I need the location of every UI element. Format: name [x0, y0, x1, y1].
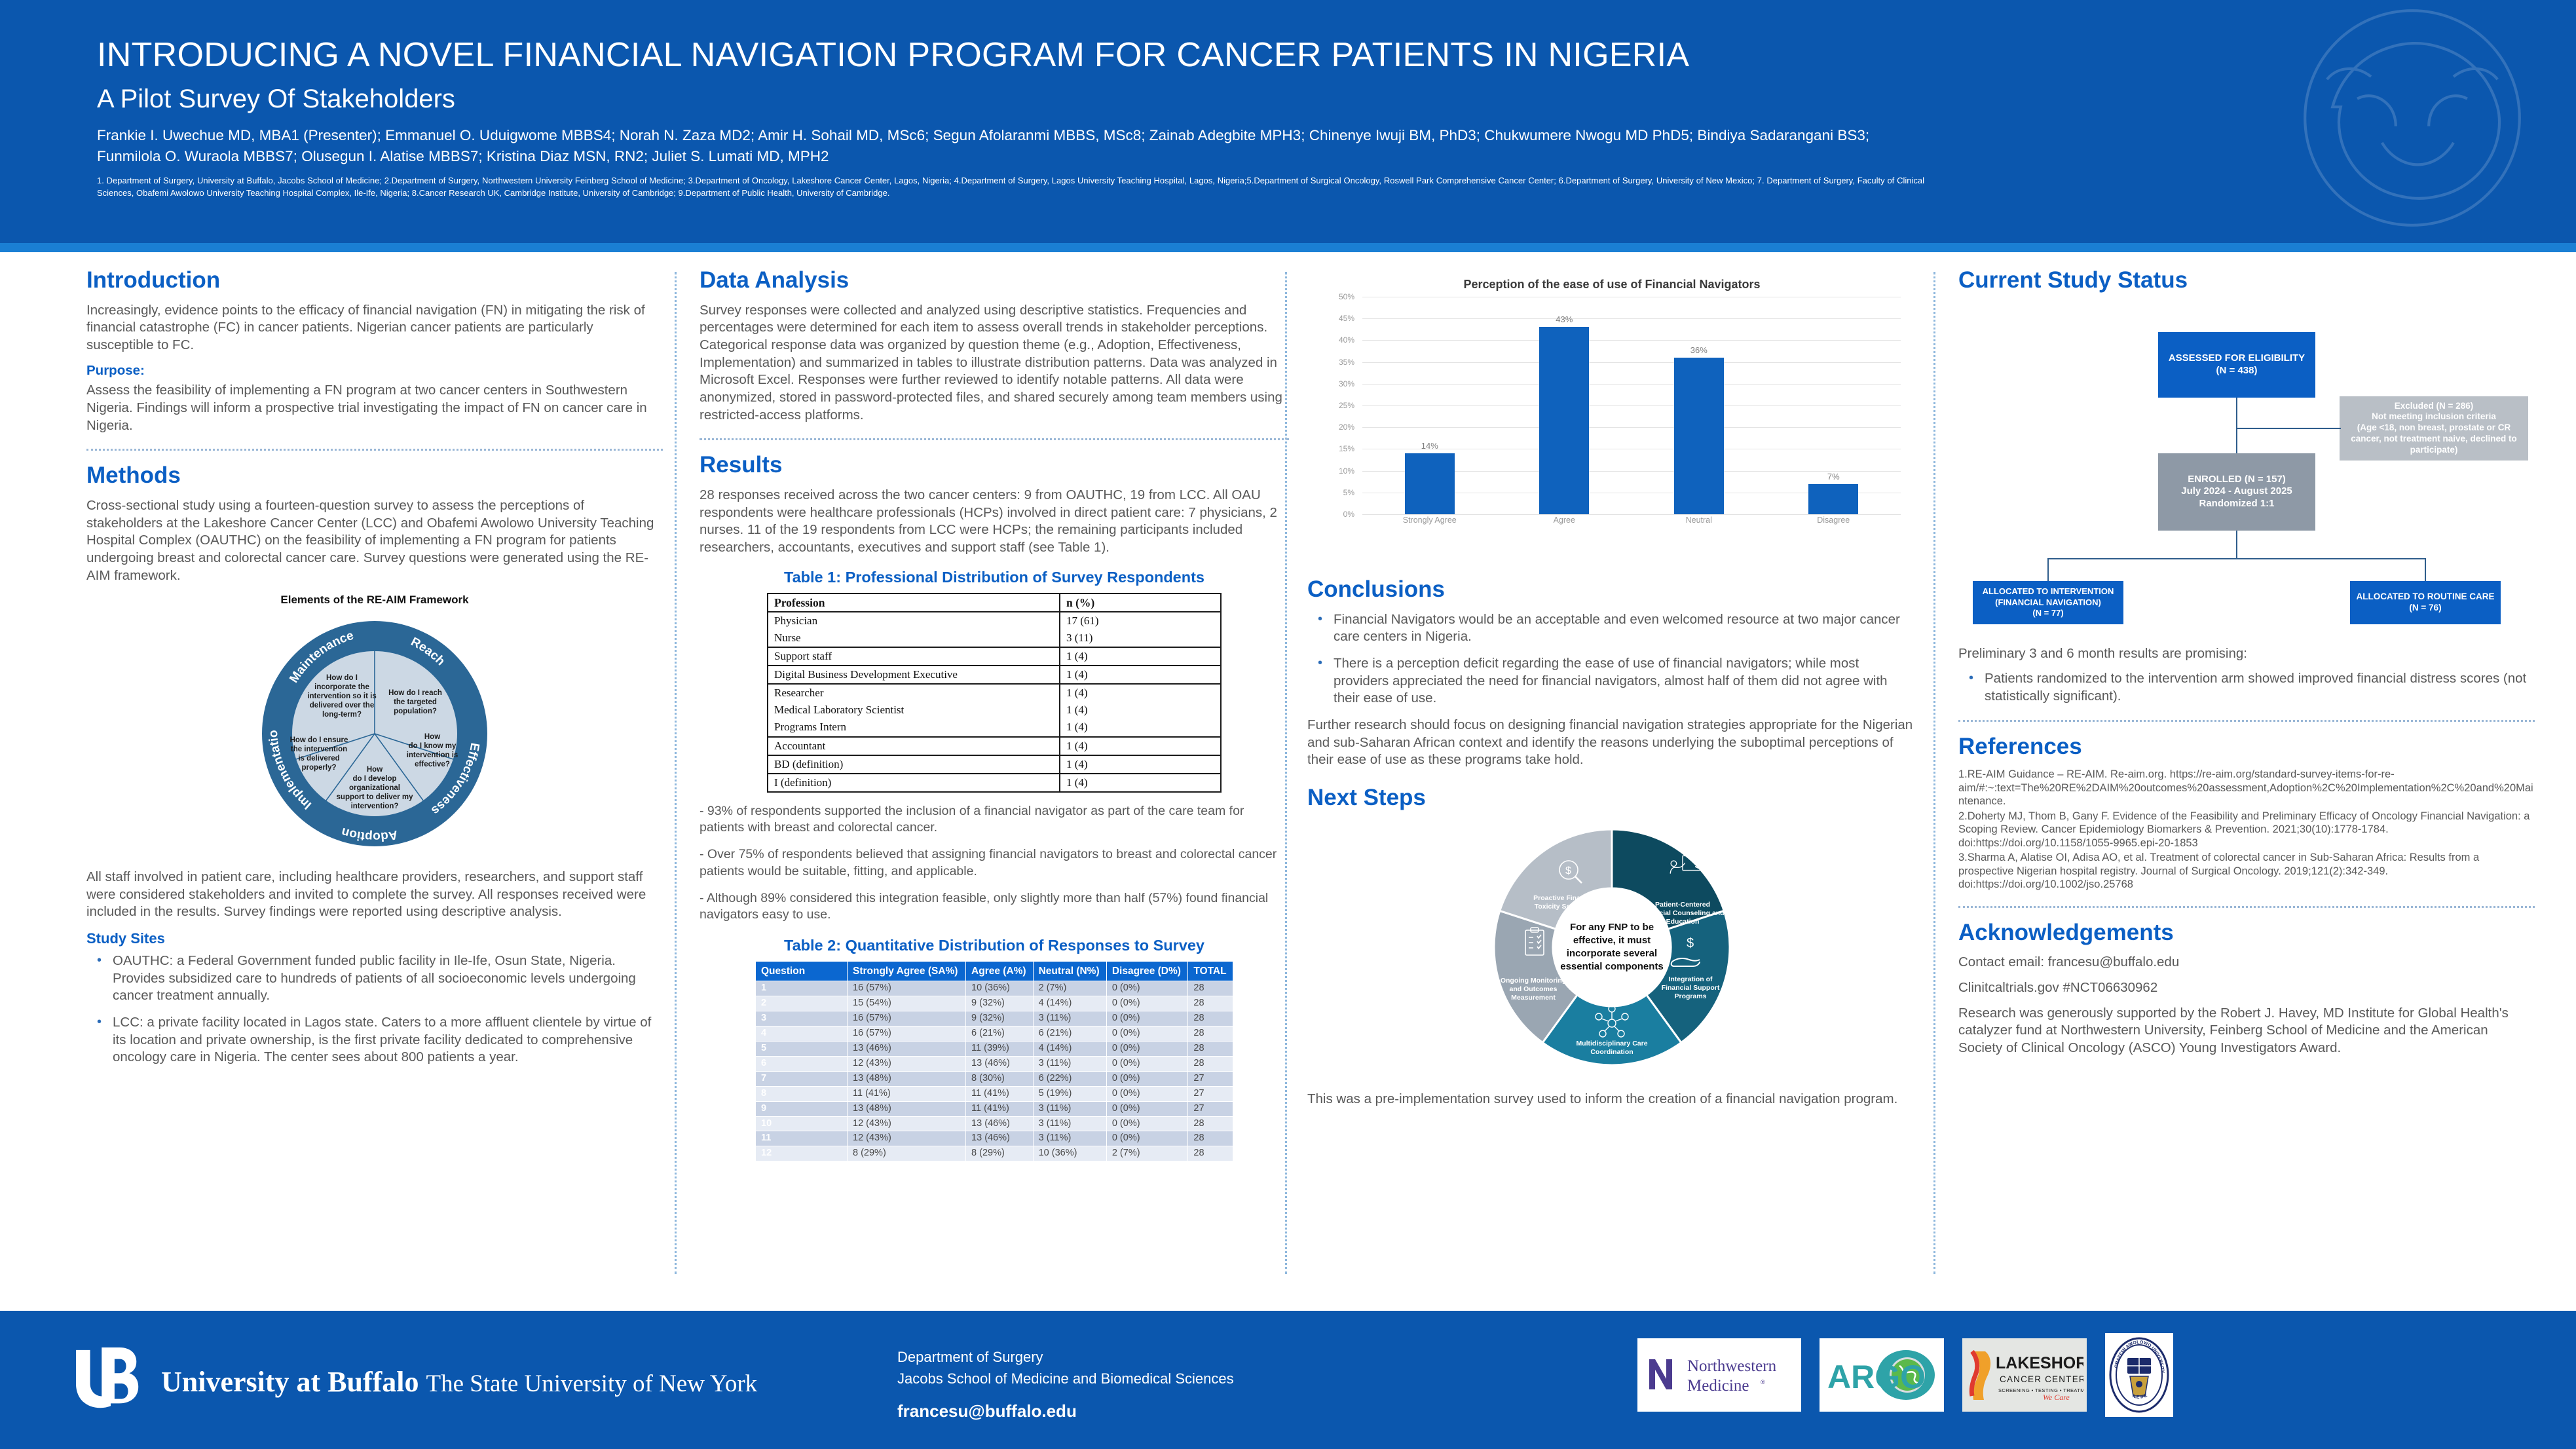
next-steps-figure: For any FNP to be effective, it must inc… [1307, 819, 1916, 1082]
svg-text:Measurement: Measurement [1511, 994, 1556, 1002]
prelim-results-list: Patients randomized to the intervention … [1958, 670, 2535, 705]
table-row-number: 2 [756, 996, 848, 1011]
fnp-components-donut-diagram: For any FNP to be effective, it must inc… [1474, 819, 1749, 1082]
table-row-number: 8 [756, 1086, 848, 1101]
purpose-text: Assess the feasibility of implementing a… [86, 382, 663, 434]
svg-text:intervention?: intervention? [351, 802, 399, 810]
reaim-figure: Reach Effectiveness Adoption Implementat… [86, 608, 663, 863]
chart-y-axis: 0%5%10%15%20%25%30%35%40%45%50% [1328, 297, 1358, 514]
list-item: LCC: a private facility located in Lagos… [86, 1014, 663, 1066]
next-steps-heading: Next Steps [1307, 786, 1916, 810]
column-divider-3 [1933, 272, 1935, 1274]
flow-box-enrolled: ENROLLED (N = 157) July 2024 - August 20… [2158, 453, 2315, 531]
chart-bars: 14%43%36%7% [1362, 297, 1901, 514]
prelim-lead: Preliminary 3 and 6 month results are pr… [1958, 645, 2535, 663]
table-cell: 27 [1188, 1101, 1233, 1116]
table-cell: I (definition) [768, 774, 1060, 792]
table-cell: Accountant [768, 737, 1060, 755]
department-email[interactable]: francesu@buffalo.edu [897, 1401, 1234, 1421]
university-at-buffalo-logo: University at Buffalo The State Universi… [72, 1346, 757, 1417]
chart-y-tick: 0% [1343, 510, 1354, 519]
svg-text:long-term?: long-term? [322, 711, 362, 719]
table-cell: 28 [1188, 1131, 1233, 1146]
header-divider [0, 243, 2576, 252]
table-cell: 1 (4) [1060, 719, 1221, 736]
svg-text:Integration of: Integration of [1668, 975, 1713, 983]
table-cell: Researcher [768, 684, 1060, 702]
table-cell: 3 (11%) [1033, 1101, 1106, 1116]
ease-of-use-bar-chart: Perception of the ease of use of Financi… [1307, 278, 1916, 559]
table-header-row: Question Strongly Agree (SA%) Agree (A%)… [756, 961, 1233, 981]
table-cell: 4 (14%) [1033, 996, 1106, 1011]
lakeshore-cancer-center-logo: LAKESHORE CANCER CENTER SCREENING • TEST… [1962, 1338, 2087, 1412]
table-row: Nurse 3 (11) [768, 630, 1221, 647]
partner-logos: Northwestern Medicine ® ARGO LAKESHORE C… [1637, 1333, 2173, 1417]
chart-x-tick: Strongly Agree [1362, 516, 1497, 533]
svg-text:effective?: effective? [415, 761, 450, 768]
svg-text:Multidisciplinary Care: Multidisciplinary Care [1576, 1040, 1647, 1047]
lakeshore-tagline: We Care [2043, 1393, 2070, 1402]
table-cell: Nurse [768, 630, 1060, 647]
table-1-professional-distribution: Profession n (%) Physician 17 (61) Nurse… [767, 593, 1222, 793]
table-cell: 0 (0%) [1106, 1071, 1188, 1086]
table-row: 128 (29%)8 (29%)10 (36%)2 (7%)28 [756, 1146, 1233, 1161]
purpose-label: Purpose [86, 363, 140, 378]
department-block: Department of Surgery Jacobs School of M… [897, 1346, 1234, 1421]
clinical-trial-id: Clinitcaltrials.gov #NCT06630962 [1958, 979, 2535, 997]
funding-statement: Research was generously supported by the… [1958, 1005, 2535, 1057]
table-cell: 9 (32%) [966, 996, 1034, 1011]
introduction-paragraph: Increasingly, evidence points to the eff… [86, 302, 663, 354]
table-header-cell: TOTAL [1188, 961, 1233, 981]
table-row: 316 (57%)9 (32%)3 (11%)0 (0%)28 [756, 1011, 1233, 1026]
department-line-1: Department of Surgery [897, 1346, 1234, 1368]
flow-box-excluded: Excluded (N = 286) Not meeting inclusion… [2340, 396, 2528, 461]
page-title: INTRODUCING A NOVEL FINANCIAL NAVIGATION… [97, 37, 1944, 74]
column-one: Introduction Increasingly, evidence poin… [86, 269, 663, 1076]
flow-box-assessed: ASSESSED FOR ELIGIBILITY (N = 438) [2158, 332, 2315, 398]
results-paragraph: 28 responses received across the two can… [700, 487, 1289, 557]
table-row: Digital Business Development Executive 1… [768, 666, 1221, 684]
table-cell: 0 (0%) [1106, 1131, 1188, 1146]
svg-text:How: How [424, 733, 440, 741]
table-row: BD (definition) 1 (4) [768, 755, 1221, 774]
table-cell: 28 [1188, 1056, 1233, 1071]
table-cell: Support staff [768, 647, 1060, 666]
table-row: 116 (57%)10 (36%)2 (7%)0 (0%)28 [756, 981, 1233, 996]
table-cell: 13 (46%) [966, 1116, 1034, 1131]
table-cell: 11 (41%) [966, 1086, 1034, 1101]
table-cell: 28 [1188, 1116, 1233, 1131]
table-cell: Physician [768, 612, 1060, 630]
table-row-number: 5 [756, 1041, 848, 1056]
reference-2: 2.Doherty MJ, Thom B, Gany F. Evidence o… [1958, 810, 2535, 850]
table-cell: 9 (32%) [966, 1011, 1034, 1026]
svg-text:population?: population? [394, 707, 437, 715]
table-cell: 3 (11%) [1033, 1116, 1106, 1131]
table-1-title: Table 1: Professional Distribution of Su… [700, 569, 1289, 586]
table-cell: 1 (4) [1060, 702, 1221, 719]
table-row: 1112 (43%)13 (46%)3 (11%)0 (0%)28 [756, 1131, 1233, 1146]
svg-text:support to deliver my: support to deliver my [337, 793, 414, 801]
table-cell: 28 [1188, 1011, 1233, 1026]
finding-2: - Over 75% of respondents believed that … [700, 846, 1289, 880]
table-row: 1012 (43%)13 (46%)3 (11%)0 (0%)28 [756, 1116, 1233, 1131]
table-row: 913 (48%)11 (41%)3 (11%)0 (0%)27 [756, 1101, 1233, 1116]
chart-x-tick: Agree [1497, 516, 1632, 533]
table-header-cell: n (%) [1060, 593, 1221, 612]
study-sites-heading: Study Sites [86, 930, 663, 947]
table-cell: 27 [1188, 1086, 1233, 1101]
svg-text:Programs: Programs [1674, 992, 1706, 1000]
column-three: Perception of the ease of use of Financi… [1307, 269, 1916, 1116]
chart-x-tick: Disagree [1766, 516, 1901, 533]
argo-mark-icon: ARGO [1826, 1347, 1937, 1402]
list-item: Financial Navigators would be an accepta… [1307, 611, 1916, 646]
chart-y-tick: 25% [1339, 401, 1354, 410]
department-line-2: Jacobs School of Medicine and Biomedical… [897, 1368, 1234, 1389]
affiliations: 1. Department of Surgery, University at … [97, 175, 1924, 200]
svg-text:properly?: properly? [301, 764, 336, 772]
table-cell: 3 (11) [1060, 630, 1221, 647]
svg-text:Financial Counseling and: Financial Counseling and [1641, 909, 1724, 917]
table-cell: 16 (57%) [848, 1026, 966, 1041]
column-two: Data Analysis Survey responses were coll… [700, 269, 1289, 1161]
table-cell: BD (definition) [768, 755, 1060, 774]
table-row: I (definition) 1 (4) [768, 774, 1221, 792]
table-cell: 12 (43%) [848, 1116, 966, 1131]
methods-paragraph: Cross-sectional study using a fourteen-q… [86, 497, 663, 584]
column-divider-1 [675, 272, 677, 1274]
table-cell: 4 (14%) [1033, 1041, 1106, 1056]
table-row: 513 (46%)11 (39%)4 (14%)0 (0%)28 [756, 1041, 1233, 1056]
northwestern-medicine-logo: Northwestern Medicine ® [1637, 1338, 1801, 1412]
table-row-number: 6 [756, 1056, 848, 1071]
svg-text:incorporate several: incorporate several [1567, 948, 1657, 959]
table-cell: 13 (46%) [966, 1131, 1034, 1146]
table-row: 416 (57%)6 (21%)6 (21%)0 (0%)28 [756, 1026, 1233, 1041]
flow-connector-right-drop [2425, 558, 2426, 581]
chart-y-tick: 10% [1339, 466, 1354, 476]
chart-grid: 14%43%36%7% [1362, 297, 1901, 514]
flow-box-allocated-intervention: ALLOCATED TO INTERVENTION (FINANCIAL NAV… [1973, 581, 2123, 624]
table-cell: 0 (0%) [1106, 981, 1188, 996]
chart-bar [1808, 484, 1858, 514]
svg-text:Education: Education [1666, 918, 1700, 926]
argo-logo: ARGO [1820, 1338, 1944, 1412]
reaim-wheel-diagram: Reach Effectiveness Adoption Implementat… [244, 608, 506, 863]
svg-text:Financial Support: Financial Support [1662, 984, 1720, 992]
table-cell: 0 (0%) [1106, 1101, 1188, 1116]
table-2-title: Table 2: Quantitative Distribution of Re… [700, 937, 1289, 954]
svg-text:$: $ [1695, 859, 1701, 871]
ub-wordmark: University at Buffalo The State Universi… [161, 1365, 757, 1399]
svg-text:effective, it must: effective, it must [1573, 935, 1651, 946]
flow-box-allocated-routine: ALLOCATED TO ROUTINE CARE (N = 76) [2350, 581, 2501, 624]
table-header-row: Profession n (%) [768, 593, 1221, 612]
table-cell: 1 (4) [1060, 737, 1221, 755]
table-row: 215 (54%)9 (32%)4 (14%)0 (0%)28 [756, 996, 1233, 1011]
table-cell: 6 (22%) [1033, 1071, 1106, 1086]
table-row: 713 (48%)8 (30%)6 (22%)0 (0%)27 [756, 1071, 1233, 1086]
table-cell: 11 (41%) [966, 1101, 1034, 1116]
svg-text:essential components: essential components [1560, 961, 1664, 972]
table-cell: 15 (54%) [848, 996, 966, 1011]
chart-y-tick: 45% [1339, 314, 1354, 323]
table-cell: 27 [1188, 1071, 1233, 1086]
chart-y-tick: 30% [1339, 379, 1354, 388]
table-cell: 8 (29%) [966, 1146, 1034, 1161]
table-header-cell: Disagree (D%) [1106, 961, 1188, 981]
contact-email[interactable]: Contact email: francesu@buffalo.edu [1958, 954, 2535, 971]
results-heading: Results [700, 453, 1289, 478]
table-row-number: 9 [756, 1101, 848, 1116]
methods-paragraph-2: All staff involved in patient care, incl… [86, 869, 663, 921]
table-cell: Digital Business Development Executive [768, 666, 1060, 684]
chart-bar-group: 7% [1766, 297, 1901, 514]
table-cell: 3 (11%) [1033, 1056, 1106, 1071]
table-row: 811 (41%)11 (41%)5 (19%)0 (0%)27 [756, 1086, 1233, 1101]
table-row: 612 (43%)13 (46%)3 (11%)0 (0%)28 [756, 1056, 1233, 1071]
finding-3: - Although 89% considered this integrati… [700, 890, 1289, 924]
table-cell: 12 (43%) [848, 1056, 966, 1071]
chart-bar [1539, 327, 1589, 514]
chart-title: Perception of the ease of use of Financi… [1307, 278, 1916, 292]
chart-y-tick: 15% [1339, 444, 1354, 453]
chart-y-tick: 5% [1343, 488, 1354, 497]
table-row: Physician 17 (61) [768, 612, 1221, 630]
chart-bar-group: 14% [1362, 297, 1497, 514]
table-cell: 28 [1188, 996, 1233, 1011]
chart-y-tick: 40% [1339, 335, 1354, 345]
table-cell: 6 (21%) [966, 1026, 1034, 1041]
column-four: Current Study Status ASSESSED FOR ELIGIB… [1958, 269, 2535, 1064]
chart-bar-value-label: 36% [1690, 345, 1708, 355]
svg-text:$: $ [1565, 865, 1571, 876]
buffalo-watermark-icon [2275, 0, 2550, 252]
poster-header: INTRODUCING A NOVEL FINANCIAL NAVIGATION… [0, 0, 2576, 252]
finding-1: - 93% of respondents supported the inclu… [700, 803, 1289, 837]
svg-text:Proactive Financial: Proactive Financial [1533, 894, 1596, 902]
section-divider [700, 438, 1289, 440]
northwestern-medicine-mark-icon: Northwestern Medicine ® [1644, 1347, 1795, 1402]
svg-text:Toxicity Screening: Toxicity Screening [1535, 903, 1596, 911]
svg-text:and Outcomes: and Outcomes [1510, 985, 1558, 993]
table-row-number: 11 [756, 1131, 848, 1146]
conclusions-list: Financial Navigators would be an accepta… [1307, 611, 1916, 707]
conclusions-paragraph: Further research should focus on designi… [1307, 717, 1916, 769]
ub-monogram-icon [72, 1346, 149, 1417]
chart-y-tick: 50% [1339, 292, 1354, 301]
table-cell: 10 (36%) [1033, 1146, 1106, 1161]
chart-y-tick: 35% [1339, 358, 1354, 367]
svg-text:the intervention: the intervention [291, 745, 347, 753]
table-cell: 28 [1188, 1146, 1233, 1161]
next-steps-caption: This was a pre-implementation survey use… [1307, 1091, 1916, 1108]
table-cell: 2 (7%) [1033, 981, 1106, 996]
table-cell: 1 (4) [1060, 774, 1221, 792]
reaim-figure-caption: Elements of the RE-AIM Framework [86, 593, 663, 607]
table-cell: 0 (0%) [1106, 1041, 1188, 1056]
svg-text:$: $ [1687, 936, 1694, 950]
svg-text:Patient-Centered: Patient-Centered [1655, 901, 1710, 909]
table-row-number: 10 [756, 1116, 848, 1131]
table-cell: 13 (48%) [848, 1101, 966, 1116]
table-header-cell: Neutral (N%) [1033, 961, 1106, 981]
northwestern-wordmark: Northwestern [1687, 1357, 1777, 1375]
table-cell: 3 (11%) [1033, 1131, 1106, 1146]
list-item: Patients randomized to the intervention … [1958, 670, 2535, 705]
chart-bar-group: 36% [1632, 297, 1766, 514]
table-cell: 1 (4) [1060, 666, 1221, 684]
svg-text:the targeted: the targeted [394, 698, 437, 706]
table-cell: 16 (57%) [848, 1011, 966, 1026]
methods-heading: Methods [86, 464, 663, 488]
table-cell: 12 (43%) [848, 1131, 966, 1146]
svg-text:intervention is: intervention is [407, 751, 458, 759]
page-subtitle: A Pilot Survey Of Stakeholders [97, 85, 1944, 113]
svg-text:do I know my: do I know my [409, 742, 457, 750]
consort-flow-diagram: ASSESSED FOR ELIGIBILITY (N = 438) Exclu… [1958, 312, 2535, 627]
table-cell: 0 (0%) [1106, 1026, 1188, 1041]
table-cell: 28 [1188, 981, 1233, 996]
table-cell: 2 (7%) [1106, 1146, 1188, 1161]
author-list: Frankie I. Uwechue MD, MBA1 (Presenter);… [97, 125, 1931, 167]
donut-label-proactive-screening: Proactive Financial Toxicity Screening [1533, 894, 1596, 911]
table-cell: 13 (46%) [966, 1056, 1034, 1071]
table-row: Medical Laboratory Scientist 1 (4) [768, 702, 1221, 719]
chart-bar-group: 43% [1497, 297, 1632, 514]
flow-connector-left-drop [2047, 558, 2049, 581]
table-cell: 6 (21%) [1033, 1026, 1106, 1041]
poster-footer: University at Buffalo The State Universi… [0, 1311, 2576, 1449]
table-cell: 11 (41%) [848, 1086, 966, 1101]
reference-1: 1.RE-AIM Guidance – RE-AIM. Re-aim.org. … [1958, 768, 2535, 808]
table-cell: Programs Intern [768, 719, 1060, 736]
ub-tagline: The State University of New York [426, 1370, 758, 1397]
data-analysis-heading: Data Analysis [700, 269, 1289, 293]
table-cell: 28 [1188, 1041, 1233, 1056]
flow-connector-vertical-2 [2236, 531, 2237, 558]
table-cell: 5 (19%) [1033, 1086, 1106, 1101]
cancer-center-wordmark: CANCER CENTER [2000, 1374, 2083, 1384]
table-header-cell: Agree (A%) [966, 961, 1034, 981]
svg-text:How do I: How do I [326, 674, 358, 682]
table-row-number: 7 [756, 1071, 848, 1086]
chart-y-tick: 20% [1339, 423, 1354, 432]
oau-seal-icon: OBAFEMI AWOLOWO UNIVERSITY ILE IFE [2108, 1336, 2171, 1414]
table-cell: 16 (57%) [848, 981, 966, 996]
table-header-cell: Question [756, 961, 848, 981]
table-row: Support staff 1 (4) [768, 647, 1221, 666]
table-cell: 17 (61) [1060, 612, 1221, 630]
study-sites-list: OAUTHC: a Federal Government funded publ… [86, 952, 663, 1066]
chart-bar [1674, 358, 1724, 514]
svg-text:delivered over the: delivered over the [310, 702, 374, 709]
table-row: Programs Intern 1 (4) [768, 719, 1221, 736]
lakeshore-services-line: SCREENING • TESTING • TREATMENT [1998, 1387, 2083, 1393]
table-row-number: 3 [756, 1011, 848, 1026]
table-row: Accountant 1 (4) [768, 737, 1221, 755]
svg-text:How do I ensure: How do I ensure [290, 736, 348, 744]
table-cell: 0 (0%) [1106, 1011, 1188, 1026]
lakeshore-mark-icon: LAKESHORE CANCER CENTER SCREENING • TEST… [1966, 1347, 2083, 1402]
chart-x-axis: Strongly AgreeAgreeNeutralDisagree [1362, 516, 1901, 533]
table-header-cell: Profession [768, 593, 1060, 612]
table-row-number: 12 [756, 1146, 848, 1161]
table-cell: 13 (46%) [848, 1041, 966, 1056]
obafemi-awolowo-university-logo: OBAFEMI AWOLOWO UNIVERSITY ILE IFE [2105, 1333, 2173, 1417]
section-divider [1958, 906, 2535, 908]
section-divider [1958, 720, 2535, 722]
chart-plot-area: 0%5%10%15%20%25%30%35%40%45%50% 14%43%36… [1328, 297, 1905, 533]
references-heading: References [1958, 735, 2535, 759]
chart-bar-value-label: 14% [1421, 441, 1438, 451]
flow-connector-to-excluded [2236, 428, 2341, 429]
chart-bar-value-label: 43% [1556, 314, 1573, 324]
table-row-number: 4 [756, 1026, 848, 1041]
table-cell: 28 [1188, 1026, 1233, 1041]
introduction-heading: Introduction [86, 269, 663, 293]
chart-bar [1405, 453, 1455, 514]
reaim-question-reach: How do I reach the targeted population? [388, 689, 442, 715]
reference-3: 3.Sharma A, Alatise OI, Adisa AO, et al.… [1958, 851, 2535, 891]
svg-text:How do I reach: How do I reach [388, 689, 442, 697]
table-cell: 0 (0%) [1106, 1056, 1188, 1071]
svg-text:organizational: organizational [349, 784, 400, 792]
data-analysis-paragraph: Survey responses were collected and anal… [700, 302, 1289, 424]
acknowledgements-heading: Acknowledgements [1958, 921, 2535, 945]
table-cell: 0 (0%) [1106, 1086, 1188, 1101]
table-cell: 0 (0%) [1106, 996, 1188, 1011]
table-2-quantitative-distribution: Question Strongly Agree (SA%) Agree (A%)… [755, 961, 1233, 1162]
lakeshore-wordmark: LAKESHORE [1996, 1354, 2083, 1372]
flow-connector-horizontal [2047, 558, 2426, 559]
argo-wordmark: ARGO [1827, 1359, 1926, 1395]
svg-text:For any FNP to be: For any FNP to be [1570, 922, 1654, 933]
chart-x-tick: Neutral [1632, 516, 1766, 533]
table-cell: 8 (30%) [966, 1071, 1034, 1086]
svg-text:incorporate the: incorporate the [314, 683, 369, 691]
table-cell: 1 (4) [1060, 684, 1221, 702]
table-cell: 1 (4) [1060, 755, 1221, 774]
list-item: OAUTHC: a Federal Government funded publ… [86, 952, 663, 1005]
current-status-heading: Current Study Status [1958, 269, 2535, 293]
svg-text:How: How [367, 766, 383, 774]
table-row-number: 1 [756, 981, 848, 996]
svg-text:®: ® [1761, 1379, 1765, 1385]
table-row: Researcher 1 (4) [768, 684, 1221, 702]
table-cell: Medical Laboratory Scientist [768, 702, 1060, 719]
table-cell: 10 (36%) [966, 981, 1034, 996]
svg-text:is delivered: is delivered [298, 755, 339, 762]
table-cell: 3 (11%) [1033, 1011, 1106, 1026]
list-item: There is a perception deficit regarding … [1307, 655, 1916, 707]
conclusions-heading: Conclusions [1307, 578, 1916, 602]
chart-gridline [1362, 514, 1901, 515]
table-cell: 13 (48%) [848, 1071, 966, 1086]
svg-text:Ongoing Monitoring: Ongoing Monitoring [1501, 977, 1566, 985]
section-divider [86, 449, 663, 451]
table-cell: 8 (29%) [848, 1146, 966, 1161]
table-cell: 11 (39%) [966, 1041, 1034, 1056]
table-cell: 0 (0%) [1106, 1116, 1188, 1131]
svg-text:intervention so it is: intervention so it is [307, 692, 376, 700]
svg-text:do I develop: do I develop [352, 775, 396, 783]
medicine-wordmark: Medicine [1687, 1377, 1749, 1395]
table-header-cell: Strongly Agree (SA%) [848, 961, 966, 981]
chart-bar-value-label: 7% [1827, 472, 1840, 481]
